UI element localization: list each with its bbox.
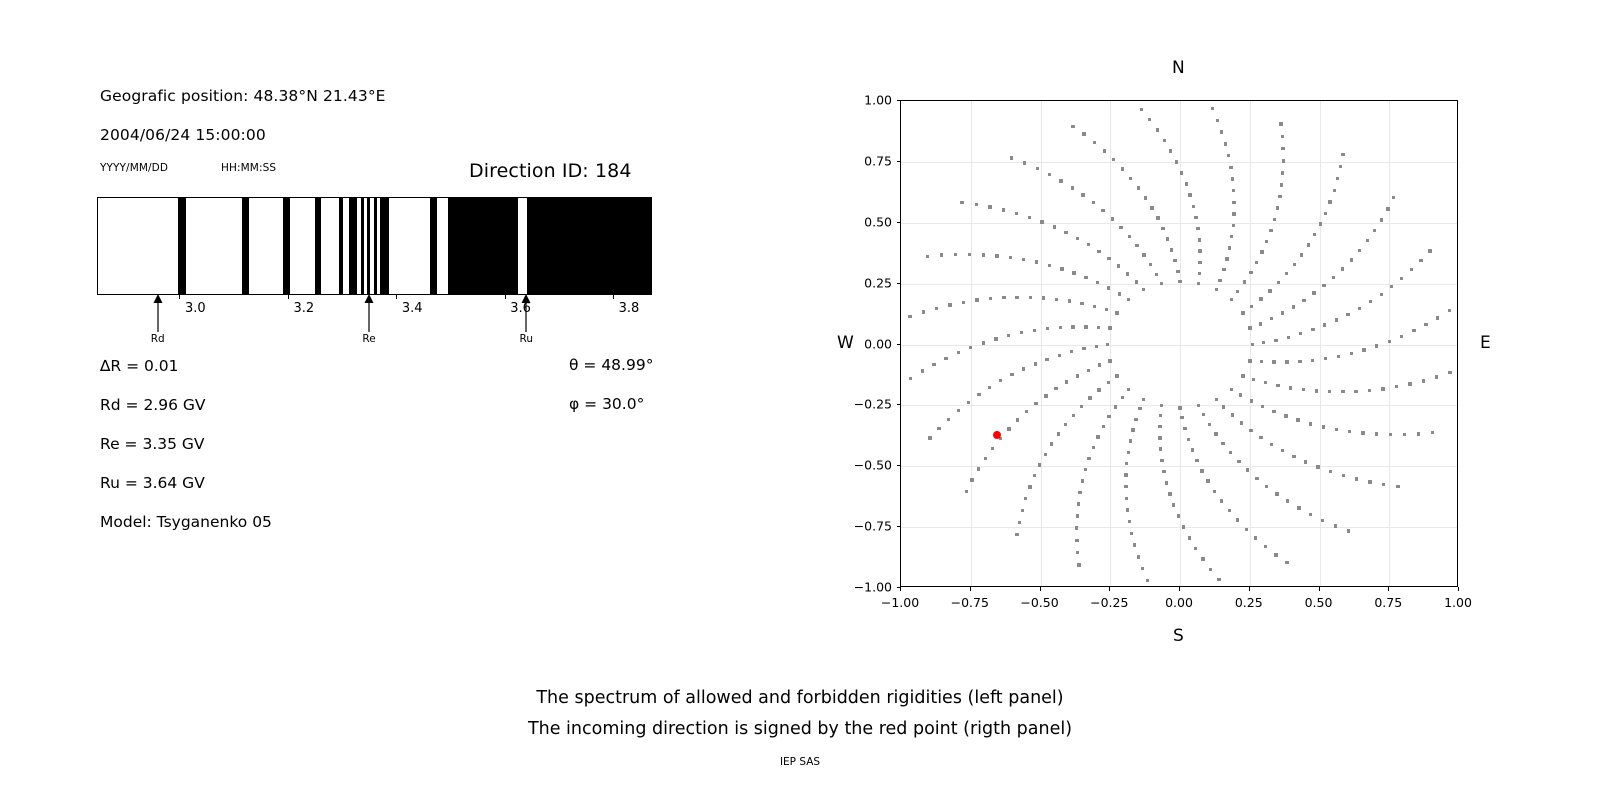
direction-dot <box>1334 524 1337 527</box>
direction-dot <box>926 255 929 258</box>
direction-dot <box>1092 446 1095 449</box>
direction-dot <box>1289 386 1292 389</box>
direction-dot <box>1131 428 1134 431</box>
direction-dot <box>1260 250 1263 253</box>
direction-dot <box>1347 529 1350 532</box>
direction-dot <box>1021 509 1024 512</box>
direction-dot <box>1358 307 1361 310</box>
direction-dot <box>1024 497 1027 500</box>
forbidden-band <box>315 198 322 294</box>
direction-dot <box>1265 485 1268 488</box>
param-delta-r: ∆R = 0.01 <box>100 357 179 375</box>
direction-dot <box>1396 485 1399 488</box>
direction-dot <box>1361 431 1364 434</box>
direction-dot <box>1200 469 1203 472</box>
direction-dot <box>1009 256 1012 259</box>
forbidden-band <box>380 198 388 294</box>
direction-dot <box>932 363 935 366</box>
direction-dot <box>1285 272 1288 275</box>
direction-dot <box>1172 503 1175 506</box>
gridline-horizontal <box>901 527 1457 528</box>
direction-dot <box>1322 284 1325 287</box>
direction-dot <box>1046 327 1049 330</box>
direction-dot <box>1159 447 1162 450</box>
direction-dot <box>1380 293 1383 296</box>
y-axis-tick-label: 1.00 <box>842 93 892 108</box>
direction-dot <box>1197 404 1200 407</box>
direction-dot <box>1272 360 1275 363</box>
direction-dot <box>1080 302 1083 305</box>
direction-dot <box>1232 224 1235 227</box>
direction-dot <box>1191 448 1194 451</box>
direction-dot <box>1087 243 1090 246</box>
direction-dot <box>1448 371 1451 374</box>
rigidity-spectrum <box>97 197 652 295</box>
direction-dot <box>1096 281 1099 284</box>
direction-dot <box>935 307 938 310</box>
direction-dot <box>1115 374 1118 377</box>
gridline-vertical <box>1320 101 1321 586</box>
direction-dot <box>1229 166 1232 169</box>
direction-dot <box>1277 281 1280 284</box>
forbidden-band <box>374 198 377 294</box>
direction-dot <box>1245 528 1248 531</box>
direction-dot <box>1342 474 1345 477</box>
direction-dot <box>1029 296 1032 299</box>
direction-dot <box>1076 237 1079 240</box>
direction-dot <box>1319 222 1322 225</box>
direction-dot <box>1292 455 1295 458</box>
marker-label-rd: Rd <box>151 333 165 345</box>
direction-dot <box>1025 410 1028 413</box>
direction-dot <box>1215 398 1218 401</box>
axis-tick <box>179 295 180 299</box>
direction-dot <box>1072 414 1075 417</box>
direction-dot <box>1375 344 1378 347</box>
direction-dot <box>962 301 965 304</box>
direction-dot <box>1134 418 1137 421</box>
direction-dot <box>968 253 971 256</box>
direction-dot <box>977 467 980 470</box>
direction-dot <box>1166 237 1169 240</box>
direction-dot <box>1278 195 1281 198</box>
direction-dot <box>1044 394 1047 397</box>
direction-dot <box>1281 311 1284 314</box>
direction-dot <box>1076 374 1079 377</box>
direction-dot <box>1159 414 1162 417</box>
direction-dot <box>1239 393 1242 396</box>
direction-dot <box>989 297 992 300</box>
direction-dot <box>1105 308 1108 311</box>
y-axis-tick-label: 0.25 <box>842 275 892 290</box>
direction-dot <box>1133 543 1136 546</box>
direction-dot <box>1022 367 1025 370</box>
direction-dot <box>1392 196 1395 199</box>
y-axis-tick-mark <box>897 100 901 101</box>
direction-dot <box>1216 119 1219 122</box>
direction-dot <box>1128 235 1131 238</box>
direction-dot <box>1075 539 1078 542</box>
direction-dot <box>1117 264 1120 267</box>
direction-dot <box>1115 311 1118 314</box>
direction-dot <box>1135 280 1138 283</box>
x-axis-tick-mark <box>1458 587 1459 591</box>
direction-dot <box>957 351 960 354</box>
forbidden-band <box>242 198 250 294</box>
direction-dot <box>1368 389 1371 392</box>
direction-dot <box>1055 298 1058 301</box>
direction-dot <box>1249 271 1252 274</box>
direction-dot <box>1299 332 1302 335</box>
direction-dot <box>1095 345 1098 348</box>
y-axis-tick-mark <box>897 587 901 588</box>
direction-dot <box>1137 186 1140 189</box>
direction-dot <box>1170 248 1173 251</box>
direction-dot <box>967 401 970 404</box>
direction-dot <box>1202 413 1205 416</box>
direction-dot <box>954 253 957 256</box>
direction-dot <box>1373 229 1376 232</box>
direction-dot <box>1187 438 1190 441</box>
direction-dot <box>1248 326 1251 329</box>
direction-dot <box>1197 282 1200 285</box>
caption-line-1: The spectrum of allowed and forbidden ri… <box>0 688 1600 708</box>
direction-dot <box>975 203 978 206</box>
direction-dot <box>1183 427 1186 430</box>
param-rd: Rd = 2.96 GV <box>100 396 206 414</box>
direction-dot <box>1068 299 1071 302</box>
direction-dot <box>1054 387 1057 390</box>
x-axis-tick-label: 1.00 <box>1444 595 1472 610</box>
direction-dot <box>1158 425 1161 428</box>
direction-dot <box>1261 405 1264 408</box>
direction-dot <box>1408 382 1411 385</box>
direction-dot <box>1255 261 1258 264</box>
direction-dot <box>999 379 1002 382</box>
direction-dot <box>1082 132 1085 135</box>
direction-dot <box>1176 270 1179 273</box>
direction-dot <box>1259 322 1262 325</box>
y-axis-tick-label: −1.00 <box>842 580 892 595</box>
direction-dot <box>1015 296 1018 299</box>
direction-dot <box>1092 201 1095 204</box>
direction-dot <box>1156 216 1159 219</box>
marker-arrow-rd <box>151 294 165 332</box>
direction-dot <box>1275 492 1278 495</box>
direction-dot <box>1302 388 1305 391</box>
direction-dot <box>969 346 972 349</box>
direction-dot <box>1119 226 1122 229</box>
direction-dot <box>1148 118 1151 121</box>
direction-dot <box>1010 156 1013 159</box>
x-axis-tick-label: −0.75 <box>951 595 989 610</box>
direction-dot <box>1084 325 1087 328</box>
direction-dot <box>1130 532 1133 535</box>
direction-dot <box>1309 513 1312 516</box>
direction-dot <box>1348 430 1351 433</box>
direction-dot <box>940 253 943 256</box>
direction-dot <box>1366 239 1369 242</box>
direction-dot <box>1339 165 1342 168</box>
direction-dot <box>1149 263 1152 266</box>
param-theta: θ = 48.99° <box>569 356 653 374</box>
direction-dot <box>1201 557 1204 560</box>
direction-dot <box>1315 389 1318 392</box>
direction-dot <box>909 377 912 380</box>
direction-dot <box>984 457 987 460</box>
direction-dot <box>1280 183 1283 186</box>
y-axis-tick-mark <box>897 161 901 162</box>
direction-dot <box>1254 536 1257 539</box>
direction-dot <box>1222 268 1225 271</box>
direction-dot <box>1264 381 1267 384</box>
direction-dot <box>1328 200 1331 203</box>
direction-dot <box>1296 418 1299 421</box>
direction-dot <box>1329 470 1332 473</box>
axis-tick-label: 3.0 <box>185 301 206 316</box>
y-axis-tick-label: −0.50 <box>842 458 892 473</box>
direction-dot <box>1060 267 1063 270</box>
direction-dot <box>1070 350 1073 353</box>
axis-tick-label: 3.8 <box>619 301 640 316</box>
x-axis-tick-label: −0.25 <box>1090 595 1128 610</box>
direction-dot <box>1146 579 1149 582</box>
marker-label-ru: Ru <box>520 333 533 345</box>
direction-dot <box>1059 179 1062 182</box>
direction-dot <box>1222 405 1225 408</box>
direction-dot <box>1078 491 1081 494</box>
direction-dot <box>975 298 978 301</box>
forbidden-band <box>283 198 290 294</box>
direction-dot <box>1276 206 1279 209</box>
direction-dot <box>1156 128 1159 131</box>
direction-dot <box>1231 413 1234 416</box>
direction-dot <box>1194 547 1197 550</box>
direction-dot <box>1285 561 1288 564</box>
direction-dot <box>1230 388 1233 391</box>
direction-dot <box>1388 340 1391 343</box>
direction-dot <box>1002 296 1005 299</box>
direction-dot <box>1059 326 1062 329</box>
direction-dot <box>1103 149 1106 152</box>
direction-dot <box>1160 404 1163 407</box>
direction-dot <box>1354 390 1357 393</box>
spectrum-axis: 3.03.23.43.63.8RdReRu <box>97 295 652 355</box>
forbidden-band <box>349 198 357 294</box>
direction-dot <box>1135 244 1138 247</box>
direction-dot <box>1386 207 1389 210</box>
direction-dot <box>1390 285 1393 288</box>
direction-dot <box>1321 519 1324 522</box>
axis-tick <box>613 295 614 299</box>
direction-dot <box>1129 439 1132 442</box>
direction-dot <box>1192 205 1195 208</box>
direction-dot <box>1248 359 1251 362</box>
y-axis-tick-mark <box>897 222 901 223</box>
x-axis-tick-mark <box>1179 587 1180 591</box>
direction-dot <box>1034 362 1037 365</box>
x-axis-tick-mark <box>1319 587 1320 591</box>
direction-dot <box>977 393 980 396</box>
direction-dot <box>1285 360 1288 363</box>
y-axis-tick-label: −0.75 <box>842 519 892 534</box>
direction-dot <box>1168 492 1171 495</box>
x-axis-tick-label: 0.25 <box>1235 595 1263 610</box>
direction-dot <box>982 253 985 256</box>
direction-dot <box>1262 341 1265 344</box>
direction-dot <box>922 310 925 313</box>
direction-dot <box>988 386 991 389</box>
direction-dot <box>1182 525 1185 528</box>
direction-dot <box>994 337 997 340</box>
direction-dot <box>1236 290 1239 293</box>
direction-dot <box>1268 289 1271 292</box>
x-axis-tick-mark <box>1109 587 1110 591</box>
direction-dot <box>1228 509 1231 512</box>
x-axis-tick-mark <box>1388 587 1389 591</box>
direction-dot <box>1018 521 1021 524</box>
direction-dot <box>1173 259 1176 262</box>
direction-dot <box>1241 311 1244 314</box>
direction-dot <box>1040 220 1043 223</box>
direction-dot <box>1198 272 1201 275</box>
direction-dot <box>1015 533 1018 536</box>
direction-dot <box>1237 460 1240 463</box>
direction-dot <box>1307 243 1310 246</box>
param-ru: Ru = 3.64 GV <box>100 474 205 492</box>
direction-dot <box>1259 297 1262 300</box>
direction-dot <box>1022 258 1025 261</box>
direction-dot <box>944 357 947 360</box>
y-axis-tick-mark <box>897 344 901 345</box>
direction-dot <box>1142 398 1145 401</box>
direction-dot <box>1341 153 1344 156</box>
direction-dot <box>1042 296 1045 299</box>
direction-dot <box>1045 358 1048 361</box>
direction-dot <box>1077 563 1080 566</box>
direction-dot <box>1309 422 1312 425</box>
time-format-hint: HH:MM:SS <box>221 162 276 174</box>
direction-dot <box>1381 387 1384 390</box>
direction-dot <box>957 409 960 412</box>
direction-dot <box>1293 263 1296 266</box>
direction-dot <box>1380 218 1383 221</box>
direction-dot <box>1033 474 1036 477</box>
direction-dot <box>1020 331 1023 334</box>
direction-dot <box>1236 518 1239 521</box>
direction-dot <box>1333 189 1336 192</box>
axis-tick-label: 3.2 <box>293 301 314 316</box>
footer-credit: IEP SAS <box>0 756 1600 768</box>
direction-dot <box>1335 318 1338 321</box>
direction-dot <box>1341 267 1344 270</box>
direction-dot <box>1137 555 1140 558</box>
direction-dot <box>1177 514 1180 517</box>
direction-dot <box>1125 497 1128 500</box>
spectrum-bar <box>97 197 652 295</box>
direction-dot <box>1346 313 1349 316</box>
direction-dot <box>1250 305 1253 308</box>
direction-dot <box>1188 193 1191 196</box>
direction-dot <box>1350 352 1353 355</box>
y-axis-tick-label: −0.25 <box>842 397 892 412</box>
marker-arrow-re <box>362 294 376 332</box>
direction-dot <box>1028 216 1031 219</box>
direction-dot <box>1121 167 1124 170</box>
axis-tick <box>396 295 397 299</box>
direction-dot <box>1087 457 1090 460</box>
direction-dot <box>1088 396 1091 399</box>
direction-dot <box>1127 298 1130 301</box>
direction-dot <box>1028 485 1031 488</box>
direction-dot <box>1044 453 1047 456</box>
direction-dot <box>1311 328 1314 331</box>
direction-dot <box>1324 212 1327 215</box>
direction-dot <box>1118 292 1121 295</box>
compass-label-east: E <box>1480 333 1491 353</box>
direction-dot <box>1163 139 1166 142</box>
direction-dot <box>1180 416 1183 419</box>
direction-dot <box>1087 369 1090 372</box>
direction-dot <box>1142 253 1145 256</box>
direction-dot <box>1448 309 1451 312</box>
direction-dot <box>1129 177 1132 180</box>
direction-dot <box>948 303 951 306</box>
direction-dot <box>1211 107 1214 110</box>
direction-dot <box>1106 343 1109 346</box>
direction-dot <box>1160 459 1163 462</box>
direction-dot <box>1281 171 1284 174</box>
direction-dot <box>1417 432 1420 435</box>
forbidden-band <box>430 198 437 294</box>
direction-dot <box>982 341 985 344</box>
direction-dot <box>1007 334 1010 337</box>
direction-dot <box>1336 177 1339 180</box>
direction-dot <box>1107 415 1110 418</box>
direction-dot <box>1250 399 1253 402</box>
direction-dot <box>1082 347 1085 350</box>
direction-dot <box>1300 253 1303 256</box>
direction-dot <box>1209 568 1212 571</box>
direction-dot <box>1220 499 1223 502</box>
direction-dot <box>1302 299 1305 302</box>
gridline-vertical <box>1041 101 1042 586</box>
gridline-vertical <box>971 101 972 586</box>
y-axis-tick-mark <box>897 404 901 405</box>
y-axis-tick-mark <box>897 283 901 284</box>
direction-dot <box>991 447 994 450</box>
direction-dot <box>1158 436 1161 439</box>
direction-dot <box>1337 355 1340 358</box>
direction-dot <box>1311 359 1314 362</box>
x-axis-tick-mark <box>970 587 971 591</box>
direction-dot <box>1178 406 1181 409</box>
direction-dot <box>1107 286 1110 289</box>
direction-dot <box>1038 463 1041 466</box>
direction-dot <box>1313 233 1316 236</box>
direction-dot <box>1358 249 1361 252</box>
direction-dot <box>1035 260 1038 263</box>
direction-dot <box>1419 259 1422 262</box>
direction-dot <box>1229 451 1232 454</box>
direction-dot <box>1304 460 1307 463</box>
direction-dot <box>1428 249 1431 252</box>
direction-dot <box>1274 339 1277 342</box>
direction-dot <box>1400 277 1403 280</box>
direction-dot <box>1180 171 1183 174</box>
direction-dot <box>1270 443 1273 446</box>
direction-dot <box>1097 388 1100 391</box>
